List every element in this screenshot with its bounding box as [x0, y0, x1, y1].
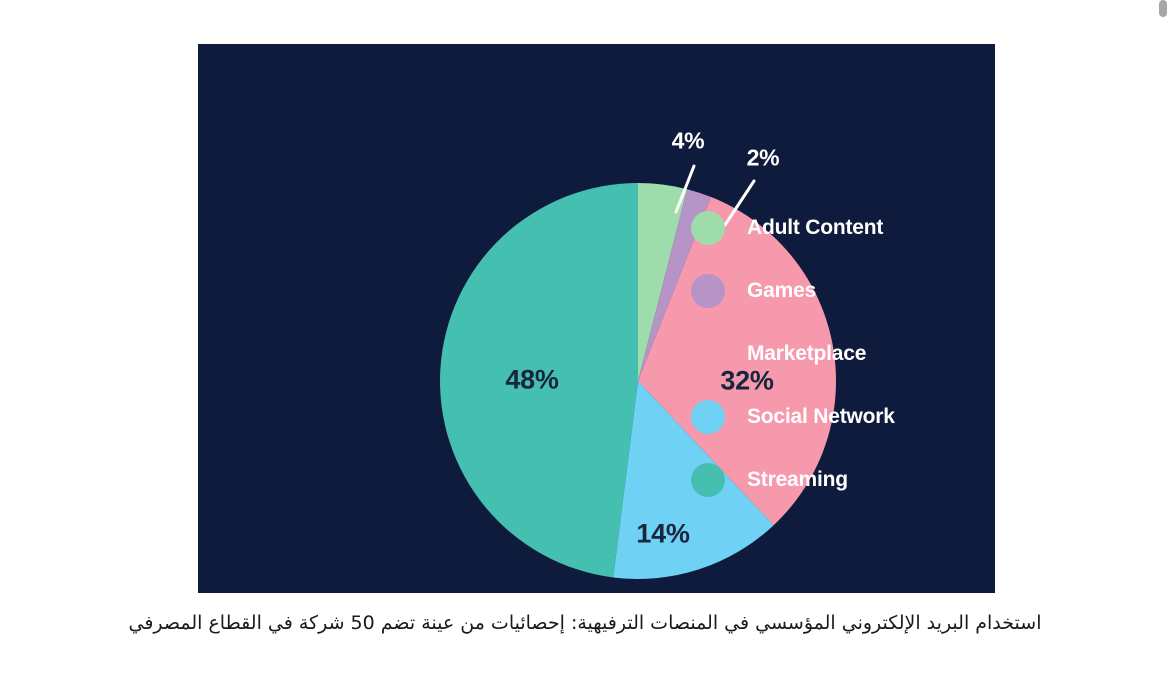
legend-item-streaming[interactable]: Streaming [691, 448, 981, 511]
chart-caption: استخدام البريد الإلكتروني المؤسسي في الم… [0, 608, 1170, 638]
legend-swatch-marketplace [691, 337, 725, 371]
slice-value-label-games: 2% [747, 145, 780, 172]
legend-label-social-network: Social Network [747, 405, 895, 429]
slice-value-label-adult-content: 4% [672, 128, 705, 155]
legend-label-marketplace: Marketplace [747, 342, 866, 366]
legend-swatch-streaming [691, 463, 725, 497]
vertical-scrollbar[interactable] [1156, 0, 1170, 679]
legend-item-adult-content[interactable]: Adult Content [691, 196, 981, 259]
legend-swatch-adult-content [691, 211, 725, 245]
legend-swatch-social-network [691, 400, 725, 434]
legend-swatch-games [691, 274, 725, 308]
chart-panel: 4%2%32%14%48% Adult Content Games Market… [198, 44, 995, 593]
legend-item-social-network[interactable]: Social Network [691, 385, 981, 448]
legend-label-games: Games [747, 279, 816, 303]
chart-legend: Adult Content Games Marketplace Social N… [691, 196, 981, 511]
slice-value-label-social-network: 14% [636, 519, 689, 550]
legend-label-streaming: Streaming [747, 468, 848, 492]
slice-value-label-streaming: 48% [505, 365, 558, 396]
legend-item-marketplace[interactable]: Marketplace [691, 322, 981, 385]
legend-label-adult-content: Adult Content [747, 216, 883, 240]
legend-item-games[interactable]: Games [691, 259, 981, 322]
scrollbar-thumb[interactable] [1159, 0, 1167, 17]
